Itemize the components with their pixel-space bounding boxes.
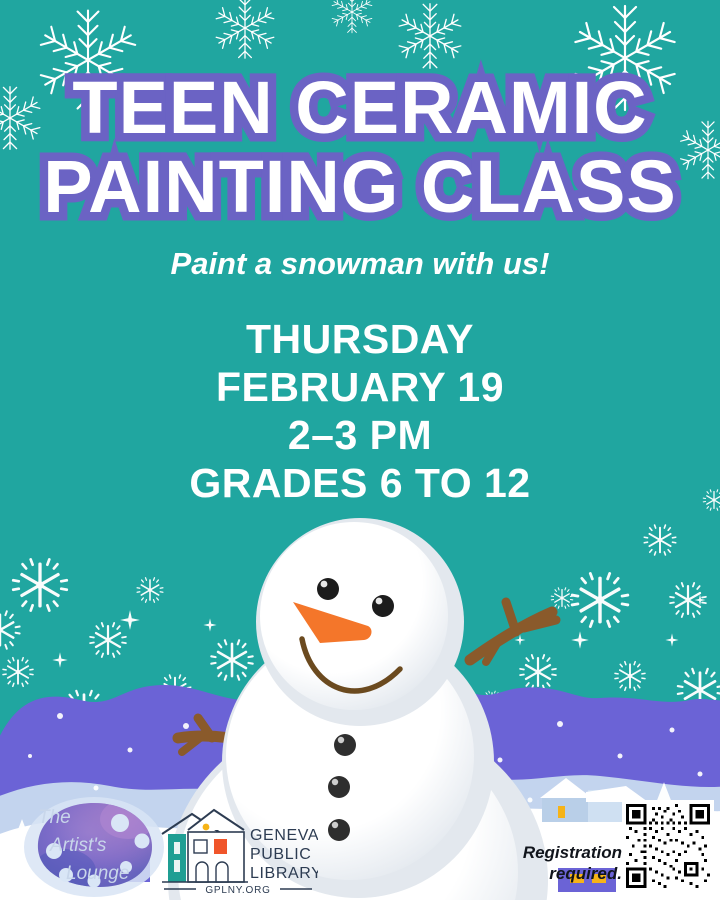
snowman-arm-right bbox=[470, 602, 556, 662]
event-details: THURSDAY FEBRUARY 19 2–3 PM GRADES 6 TO … bbox=[0, 316, 720, 508]
snowman-button bbox=[328, 819, 350, 841]
qr-code-icon[interactable] bbox=[626, 804, 710, 888]
artist-logo-line-3: Lounge bbox=[66, 863, 129, 884]
library-logo-line-3: LIBRARY bbox=[250, 865, 318, 882]
registration-line-1: Registration bbox=[422, 842, 622, 863]
snowman-eye-left bbox=[317, 578, 339, 600]
snowman-head bbox=[256, 518, 464, 726]
qr-code[interactable] bbox=[622, 800, 714, 892]
library-website-text: GPLNY.ORG bbox=[205, 885, 270, 894]
event-date: FEBRUARY 19 bbox=[0, 364, 720, 412]
artists-lounge-logo: The Artist's Lounge bbox=[24, 793, 164, 897]
house-icon bbox=[162, 810, 248, 882]
poster-title: TEEN CERAMIC PAINTING CLASS bbox=[0, 72, 720, 223]
library-logo-line-2: PUBLIC bbox=[250, 846, 311, 863]
registration-note: Registration required. bbox=[422, 842, 622, 885]
event-time: 2–3 PM bbox=[0, 412, 720, 460]
registration-line-2: required. bbox=[422, 863, 622, 884]
artist-logo-line-1: The bbox=[38, 807, 71, 828]
geneva-public-library-logo: GENEVA PUBLIC LIBRARY GPLNY.ORG bbox=[158, 806, 318, 894]
title-line-1: TEEN CERAMIC bbox=[0, 72, 720, 145]
event-day: THURSDAY bbox=[0, 316, 720, 364]
artist-logo-line-2: Artist's bbox=[49, 835, 107, 856]
poster-canvas: TEEN CERAMIC PAINTING CLASS Paint a snow… bbox=[0, 0, 720, 900]
snowman-eye-right bbox=[372, 595, 394, 617]
poster-subtitle: Paint a snowman with us! bbox=[0, 246, 720, 282]
library-website: GPLNY.ORG bbox=[164, 885, 312, 894]
event-grades: GRADES 6 TO 12 bbox=[0, 460, 720, 508]
library-logo-line-1: GENEVA bbox=[250, 827, 318, 844]
snowman-button bbox=[328, 776, 350, 798]
title-line-2: PAINTING CLASS bbox=[0, 151, 720, 224]
snowman-button bbox=[334, 734, 356, 756]
